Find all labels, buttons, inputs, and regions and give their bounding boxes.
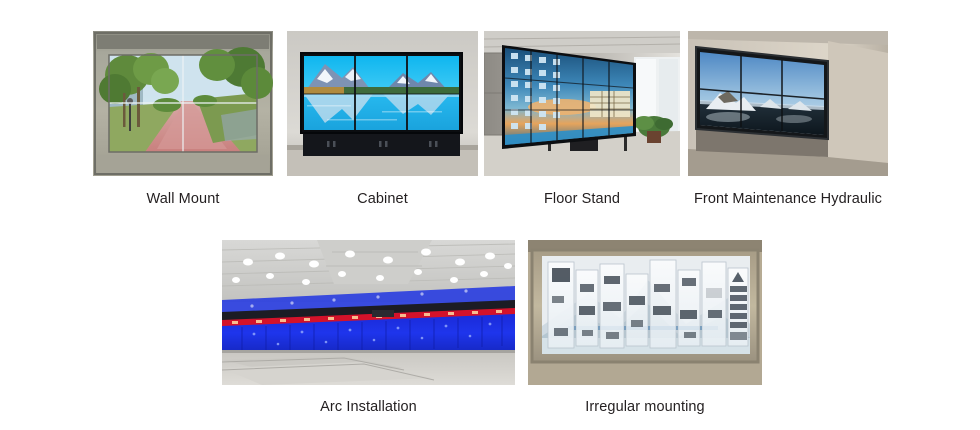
gallery-item-wall-mount[interactable]	[93, 31, 273, 176]
gallery-item-irregular-mounting[interactable]	[528, 240, 762, 385]
irregular-mounting-video-wall-photo[interactable]	[528, 240, 762, 385]
floor-stand-video-wall-photo[interactable]	[484, 31, 680, 176]
gallery-item-front-maintenance-hydraulic[interactable]	[688, 31, 888, 176]
gallery-caption-irregular-mounting: Irregular mounting	[528, 398, 762, 416]
installation-type-gallery: Wall Mount	[0, 0, 980, 430]
cabinet-video-wall-photo[interactable]	[287, 31, 478, 176]
front-maintenance-hydraulic-video-wall-photo[interactable]	[688, 31, 888, 176]
gallery-item-cabinet[interactable]	[287, 31, 478, 176]
gallery-caption-floor-stand: Floor Stand	[484, 190, 680, 208]
gallery-caption-wall-mount: Wall Mount	[93, 190, 273, 208]
gallery-item-arc-installation[interactable]	[222, 240, 515, 385]
arc-installation-video-wall-photo[interactable]	[222, 240, 515, 385]
wall-mount-video-wall-photo[interactable]	[93, 31, 273, 176]
gallery-caption-front-maintenance-hydraulic: Front Maintenance Hydraulic	[670, 190, 906, 208]
gallery-caption-arc-installation: Arc Installation	[222, 398, 515, 416]
gallery-item-floor-stand[interactable]	[484, 31, 680, 176]
gallery-caption-cabinet: Cabinet	[287, 190, 478, 208]
